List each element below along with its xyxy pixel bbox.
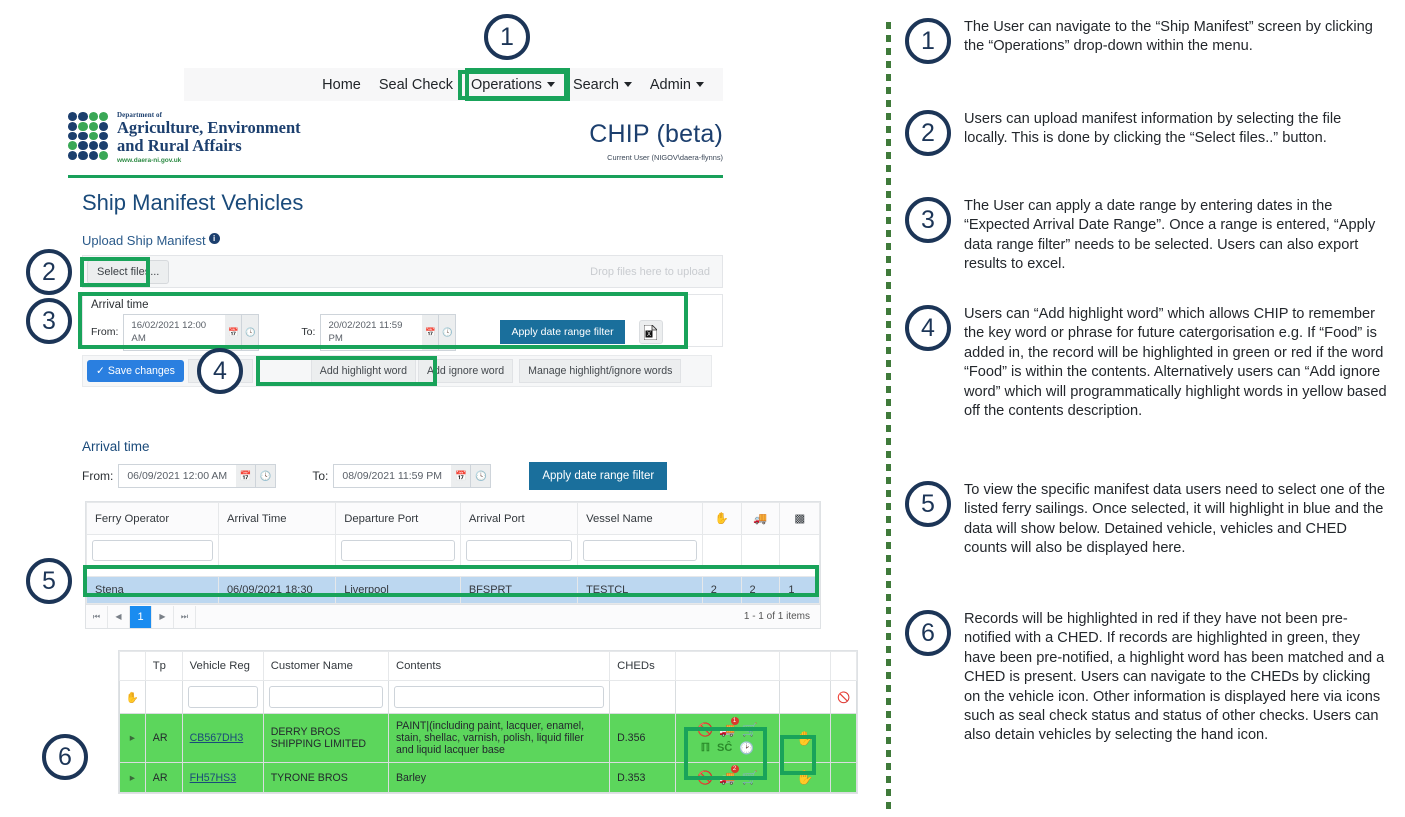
filter-input-vessel-name[interactable] [583,540,697,561]
vehicles-header-row: Tp Vehicle Reg Customer Name Contents CH… [120,652,857,681]
pager-prev-button[interactable]: ◀ [108,606,130,628]
cell-customer-name: TYRONE BROS [263,763,388,793]
filter-input-contents[interactable] [394,686,604,708]
pager-next-button[interactable]: ▶ [152,606,174,628]
eye-slash-icon[interactable]: 🚫 [831,681,857,714]
table-row[interactable]: Stena 06/09/2021 18:30 Liverpool BFSPRT … [87,577,820,604]
bottom-filter-from-label: From: [82,469,113,483]
app-title: CHIP (beta) [589,120,723,149]
pager-page-1-button[interactable]: 1 [130,606,152,628]
top-filter-to-group[interactable]: 20/02/2021 11:59 PM 📅 🕓 [320,314,456,351]
daera-logo-icon [68,112,108,160]
column-header-vehicle-reg[interactable]: Vehicle Reg [182,652,263,681]
nav-item-seal-check[interactable]: Seal Check [370,74,462,96]
ferry-sailings-table: Ferry Operator Arrival Time Departure Po… [85,501,821,605]
annotation-4: 4 Users can “Add highlight word” which a… [905,305,1388,421]
filter-input-departure-port[interactable] [341,540,455,561]
row-expand-icon[interactable]: ▸ [120,714,146,763]
chevron-down-icon [624,82,632,87]
cell-overflow [831,763,857,793]
ferry-table-paginator: ⏮ ◀ 1 ▶ ⏭ 1 - 1 of 1 items [85,605,821,629]
callout-marker-3: 3 [26,298,72,344]
manage-highlight-ignore-words-button[interactable]: Manage highlight/ignore words [519,359,681,383]
column-header-expand [120,652,146,681]
header-divider [68,175,723,178]
brand-website-url: www.daera-ni.gov.uk [117,158,301,165]
filter-cell-cheds [610,681,676,714]
truck-badge-icon[interactable]: 🚚1 [719,722,735,738]
chevron-down-icon [696,82,704,87]
vehicle-reg-link[interactable]: FH57HS3 [190,772,237,784]
column-header-arrival-port[interactable]: Arrival Port [460,503,577,535]
table-header-row: Ferry Operator Arrival Time Departure Po… [87,503,820,535]
nav-item-seal-check-label: Seal Check [379,77,453,93]
app-title-block: CHIP (beta) Current User (NIGOV\daera-fl… [589,120,723,162]
bottom-filter-to-label: To: [312,469,328,483]
table-row[interactable]: ▸ AR CB567DH3 DERRY BROS SHIPPING LIMITE… [120,714,857,763]
brand-name-line1: Agriculture, Environment [117,119,301,137]
panel-divider [886,22,891,812]
top-filter-from-input[interactable]: 16/02/2021 12:00 AM [123,314,225,351]
truck-badge-icon[interactable]: 🚚2 [719,770,735,786]
daera-branding: Department of Agriculture, Environment a… [68,112,301,165]
column-header-vessel-name[interactable]: Vessel Name [578,503,703,535]
brand-name-line2: and Rural Affairs [117,137,301,155]
annotation-5-text: To view the specific manifest data users… [964,481,1388,559]
seal-check-icon[interactable]: SĈ [717,742,732,754]
nav-item-search[interactable]: Search [564,74,641,96]
cell-customer-name: DERRY BROS SHIPPING LIMITED [263,714,388,763]
annotation-4-text: Users can “Add highlight word” which all… [964,305,1388,421]
select-files-button[interactable]: Select files... [87,260,169,284]
nav-item-operations-label: Operations [471,77,542,93]
status-icon-group: 🚫 🚚1 🛒 ℿ SĈ 🕑 [676,714,779,763]
table-spacer-row [87,567,820,577]
top-date-filter-panel: Arrival time From: 16/02/2021 12:00 AM 📅… [82,294,723,347]
annotation-2-text: Users can upload manifest information by… [964,110,1388,156]
cell-contents: PAINT|(including paint, lacquer, enamel,… [388,714,609,763]
annotation-2-number: 2 [905,110,951,156]
cell-cheds: D.353 [610,763,676,793]
column-header-vehicles-truck-icon[interactable]: 🚚 [741,503,780,535]
truck-badge-count: 1 [731,717,739,725]
filter-input-vehicle-reg[interactable] [188,686,258,708]
annotation-1-number: 1 [905,18,951,64]
column-header-ferry-operator[interactable]: Ferry Operator [87,503,219,535]
row-expand-icon[interactable]: ▸ [120,763,146,793]
add-ignore-word-button[interactable]: Add ignore word [418,359,513,383]
chevron-down-icon [547,82,555,87]
save-changes-label: Save changes [108,365,175,377]
upload-label-text: Upload Ship Manifest [82,233,206,248]
detain-hand-icon[interactable]: ✋ [779,763,831,793]
upload-section-label: Upload Ship Manifesti [82,233,220,248]
calendar-icon[interactable]: 📅 [422,314,439,351]
filter-input-ferry-operator[interactable] [92,540,213,561]
column-header-detained-hand-icon[interactable]: ✋ [702,503,741,535]
column-header-detain [779,652,831,681]
eye-slash-icon[interactable]: 🚫 [697,770,713,786]
cell-tp: AR [145,714,182,763]
nav-item-home-label: Home [322,77,361,93]
callout-marker-5: 5 [26,558,72,604]
annotation-4-number: 4 [905,305,951,351]
document-icon[interactable]: ℿ [701,741,710,754]
table-row[interactable]: ▸ AR FH57HS3 TYRONE BROS Barley D.353 🚫 … [120,763,857,793]
top-filter-from-group[interactable]: 16/02/2021 12:00 AM 📅 🕓 [123,314,259,351]
bottom-filter-to-input[interactable]: 08/09/2021 11:59 PM [333,464,451,488]
main-navigation: Home Seal Check Operations Search Admin [184,68,723,101]
cell-vehicle-count: 2 [741,577,780,604]
annotation-6-number: 6 [905,610,951,656]
calendar-icon[interactable]: 📅 [451,464,471,488]
callout-marker-2: 2 [26,249,72,295]
calendar-icon[interactable]: 📅 [225,314,242,351]
cart-icon[interactable]: 🛒 [742,770,758,786]
dropzone-message: Drop files here to upload [590,266,710,278]
cell-cheds: D.356 [610,714,676,763]
nav-item-admin[interactable]: Admin [641,74,713,96]
info-icon[interactable]: i [209,233,220,244]
calendar-icon[interactable]: 📅 [236,464,256,488]
top-filter-from-label: From: [91,326,118,338]
annotation-1-text: The User can navigate to the “Ship Manif… [964,18,1388,64]
column-header-departure-port[interactable]: Departure Port [336,503,461,535]
filter-cell-cheds [780,535,820,567]
cell-departure-port: Liverpool [336,577,461,604]
annotation-3: 3 The User can apply a date range by ent… [905,197,1388,275]
filter-cell-vehicles [741,535,780,567]
add-highlight-word-button[interactable]: Add highlight word [311,359,416,383]
clock-icon[interactable]: 🕓 [439,314,456,351]
table-filter-row [87,535,820,567]
annotation-6-text: Records will be highlighted in red if th… [964,610,1388,746]
cell-arrival-time: 06/09/2021 18:30 [218,577,335,604]
clock-icon[interactable]: 🕓 [471,464,491,488]
word-actions-toolbar: ✓ Save changes ⊘ Cancel Add highlight wo… [82,355,712,387]
clock-icon[interactable]: 🕑 [739,741,754,755]
callout-marker-4: 4 [197,348,243,394]
cell-ched-count: 1 [780,577,820,604]
status-icon-group: 🚫 🚚2 🛒 [676,763,779,793]
filter-input-arrival-port[interactable] [466,540,572,561]
filter-cell-status [676,681,779,714]
top-apply-date-range-button[interactable]: Apply date range filter [500,320,624,344]
annotation-3-number: 3 [905,197,951,243]
cart-icon[interactable]: 🛒 [742,722,758,738]
filter-cell-tp [145,681,182,714]
filter-input-customer-name[interactable] [269,686,383,708]
clock-icon[interactable]: 🕓 [242,314,259,351]
column-header-contents[interactable]: Contents [388,652,609,681]
cell-contents: Barley [388,763,609,793]
top-filter-title: Arrival time [83,295,722,311]
eye-slash-icon[interactable]: 🚫 [697,722,713,738]
filter-cell-detained [702,535,741,567]
annotation-5-number: 5 [905,481,951,527]
annotation-6: 6 Records will be highlighted in red if … [905,610,1388,746]
nav-item-home[interactable]: Home [313,74,370,96]
cell-arrival-port: BFSPRT [460,577,577,604]
annotation-3-text: The User can apply a date range by enter… [964,197,1388,275]
save-changes-button[interactable]: ✓ Save changes [87,360,184,382]
bottom-apply-date-range-button[interactable]: Apply date range filter [529,462,667,490]
cell-ferry-operator: Stena [87,577,219,604]
column-header-tp[interactable]: Tp [145,652,182,681]
column-header-cheds[interactable]: CHEDs [610,652,676,681]
callout-marker-6: 6 [42,734,88,780]
column-header-customer-name[interactable]: Customer Name [263,652,388,681]
bottom-filter-title: Arrival time [82,439,150,454]
pager-first-button[interactable]: ⏮ [86,606,108,628]
detain-hand-icon[interactable]: ✋ [779,714,831,763]
application-screenshot: Home Seal Check Operations Search Admin … [0,0,875,817]
column-header-arrival-time[interactable]: Arrival Time [218,503,335,535]
vehicles-filter-row: ✋ 🚫 [120,681,857,714]
clock-icon[interactable]: 🕓 [256,464,276,488]
cell-tp: AR [145,763,182,793]
vehicle-reg-link[interactable]: CB567DH3 [190,732,244,744]
top-filter-to-label: To: [301,326,315,338]
current-user-label: Current User (NIGOV\daera-flynns) [589,153,723,162]
file-dropzone[interactable]: Select files... Drop files here to uploa… [82,255,723,288]
annotations-panel: 1 The User can navigate to the “Ship Man… [905,0,1405,817]
cell-vessel-name: TESTCL [578,577,703,604]
page-title: Ship Manifest Vehicles [82,190,303,216]
svg-text:X: X [647,332,651,338]
nav-item-admin-label: Admin [650,77,691,93]
filter-hand-icon[interactable]: ✋ [120,681,146,714]
annotation-5: 5 To view the specific manifest data use… [905,481,1388,559]
callout-marker-1: 1 [484,14,530,60]
bottom-date-filter-panel: From: 06/09/2021 12:00 AM 📅 🕓 To: 08/09/… [82,462,667,490]
annotation-2: 2 Users can upload manifest information … [905,110,1388,156]
nav-item-operations[interactable]: Operations [462,74,564,96]
column-header-overflow [831,652,857,681]
pager-item-count: 1 - 1 of 1 items [744,611,810,622]
excel-export-icon[interactable]: X [639,320,663,344]
bottom-filter-to-group[interactable]: 08/09/2021 11:59 PM 📅 🕓 [333,464,491,488]
column-header-cheds-boxes-icon[interactable]: ▩ [780,503,820,535]
truck-badge-count: 2 [731,765,739,773]
nav-item-search-label: Search [573,77,619,93]
bottom-filter-from-group[interactable]: 06/09/2021 12:00 AM 📅 🕓 [118,464,276,488]
bottom-filter-from-input[interactable]: 06/09/2021 12:00 AM [118,464,236,488]
vehicles-table: Tp Vehicle Reg Customer Name Contents CH… [118,650,858,794]
pager-last-button[interactable]: ⏭ [174,606,196,628]
cell-detained-count: 2 [702,577,741,604]
annotation-1: 1 The User can navigate to the “Ship Man… [905,18,1388,64]
filter-cell-detain [779,681,831,714]
top-filter-to-input[interactable]: 20/02/2021 11:59 PM [320,314,422,351]
cell-overflow [831,714,857,763]
column-header-status-icons [676,652,779,681]
